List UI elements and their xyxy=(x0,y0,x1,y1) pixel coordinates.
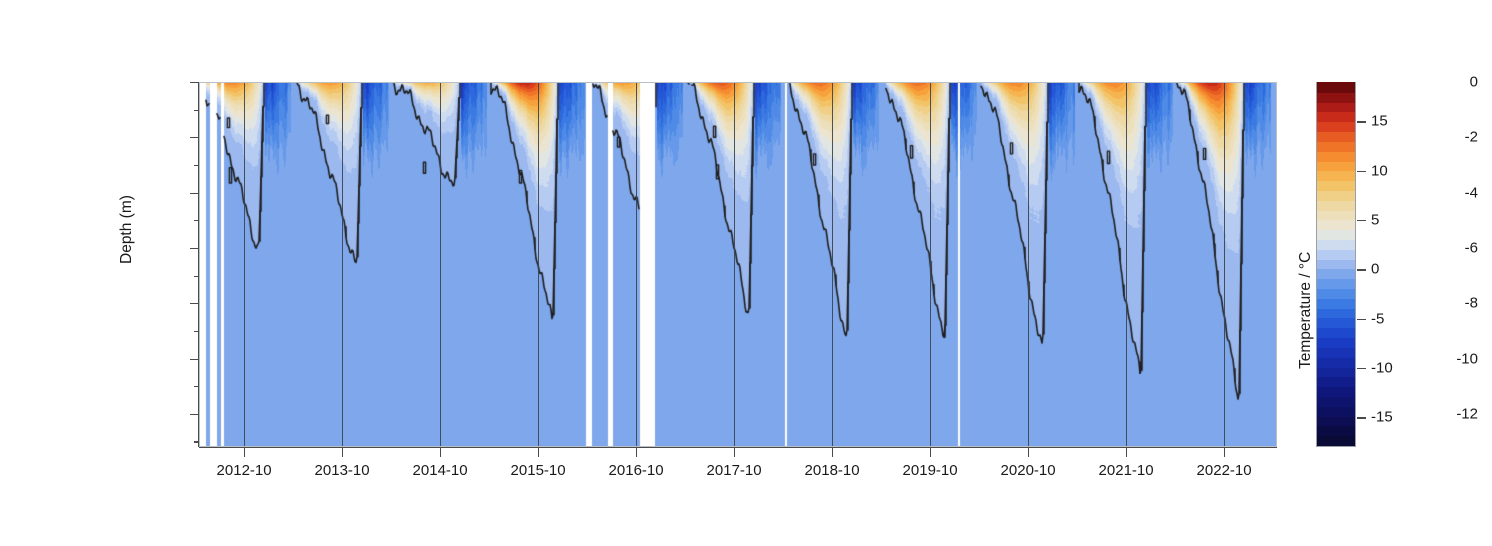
year-reference-line xyxy=(440,82,441,447)
year-reference-line xyxy=(734,82,735,447)
plot-area[interactable] xyxy=(199,82,1277,447)
y-tick-label: -4 xyxy=(1465,184,1478,201)
year-reference-line xyxy=(832,82,833,447)
colorbar-band xyxy=(1317,298,1355,309)
colorbar-band xyxy=(1317,112,1355,123)
y-tick-label: -6 xyxy=(1465,239,1478,256)
colorbar-band xyxy=(1317,426,1355,437)
colorbar-band xyxy=(1317,288,1355,299)
y-tick-label: -10 xyxy=(1456,350,1478,367)
year-reference-line xyxy=(1126,82,1127,447)
colorbar-tick xyxy=(1357,220,1366,221)
y-axis xyxy=(191,82,199,447)
colorbar-band xyxy=(1317,229,1355,240)
year-reference-line xyxy=(930,82,931,447)
colorbar-tick xyxy=(1357,171,1366,172)
y-tick-label: -12 xyxy=(1456,405,1478,422)
colorbar-gradient xyxy=(1316,82,1356,447)
x-tick xyxy=(440,448,441,457)
colorbar-tick-label: 5 xyxy=(1371,212,1379,229)
colorbar-band xyxy=(1317,200,1355,211)
x-tick-label: 2020-10 xyxy=(1001,462,1056,479)
x-tick xyxy=(930,448,931,457)
x-tick xyxy=(342,448,343,457)
x-tick xyxy=(734,448,735,457)
colorbar-band xyxy=(1317,92,1355,103)
colorbar-band xyxy=(1317,210,1355,221)
colorbar-band xyxy=(1317,82,1355,93)
y-tick xyxy=(190,137,199,138)
colorbar-band xyxy=(1317,269,1355,280)
colorbar-band xyxy=(1317,102,1355,113)
colorbar-band xyxy=(1317,190,1355,201)
temperature-depth-hovmoller-figure: Depth (m) 2012-102013-102014-102015-1020… xyxy=(0,0,1492,546)
colorbar-band xyxy=(1317,357,1355,368)
year-reference-line xyxy=(1028,82,1029,447)
year-reference-line xyxy=(636,82,637,447)
colorbar-band xyxy=(1317,347,1355,358)
colorbar[interactable]: 151050-5-10-15 xyxy=(1316,82,1356,447)
year-reference-line xyxy=(1224,82,1225,447)
x-tick-label: 2016-10 xyxy=(609,462,664,479)
colorbar-band xyxy=(1317,219,1355,230)
year-reference-line xyxy=(342,82,343,447)
colorbar-band xyxy=(1317,131,1355,142)
colorbar-tick xyxy=(1357,368,1366,369)
colorbar-band xyxy=(1317,151,1355,162)
x-tick xyxy=(244,448,245,457)
heatmap-canvas xyxy=(199,82,1277,447)
x-tick-label: 2015-10 xyxy=(511,462,566,479)
colorbar-band xyxy=(1317,318,1355,329)
y-tick-label: 0 xyxy=(1470,74,1478,91)
colorbar-band xyxy=(1317,396,1355,407)
x-tick-label: 2021-10 xyxy=(1099,462,1154,479)
colorbar-band xyxy=(1317,367,1355,378)
y-tick-label: -8 xyxy=(1465,295,1478,312)
colorbar-tick xyxy=(1357,417,1366,418)
colorbar-tick-label: -10 xyxy=(1371,360,1393,377)
colorbar-band xyxy=(1317,161,1355,172)
colorbar-band xyxy=(1317,278,1355,289)
colorbar-band xyxy=(1317,141,1355,152)
colorbar-title: Temperature / °C xyxy=(1297,252,1315,369)
colorbar-band xyxy=(1317,416,1355,427)
colorbar-band xyxy=(1317,386,1355,397)
colorbar-band xyxy=(1317,170,1355,181)
colorbar-band xyxy=(1317,376,1355,387)
x-tick-label: 2022-10 xyxy=(1197,462,1252,479)
colorbar-band xyxy=(1317,308,1355,319)
x-tick xyxy=(1126,448,1127,457)
x-tick xyxy=(636,448,637,457)
colorbar-band xyxy=(1317,327,1355,338)
x-tick-label: 2018-10 xyxy=(805,462,860,479)
colorbar-tick-label: -15 xyxy=(1371,409,1393,426)
colorbar-tick-label: 0 xyxy=(1371,261,1379,278)
colorbar-tick xyxy=(1357,269,1366,270)
y-tick xyxy=(190,193,199,194)
x-tick xyxy=(1028,448,1029,457)
x-tick xyxy=(1224,448,1225,457)
x-tick-label: 2013-10 xyxy=(315,462,370,479)
y-tick xyxy=(190,414,199,415)
colorbar-band xyxy=(1317,180,1355,191)
x-tick xyxy=(538,448,539,457)
colorbar-tick xyxy=(1357,121,1366,122)
y-tick xyxy=(190,359,199,360)
colorbar-tick-label: 10 xyxy=(1371,162,1388,179)
x-tick-label: 2014-10 xyxy=(413,462,468,479)
colorbar-tick-label: 15 xyxy=(1371,113,1388,130)
year-reference-line xyxy=(244,82,245,447)
colorbar-band xyxy=(1317,435,1355,446)
y-tick xyxy=(190,82,199,83)
colorbar-band xyxy=(1317,337,1355,348)
y-tick-label: -2 xyxy=(1465,129,1478,146)
x-tick xyxy=(832,448,833,457)
colorbar-tick xyxy=(1357,319,1366,320)
x-axis: 2012-102013-102014-102015-102016-102017-… xyxy=(199,447,1277,455)
year-reference-line xyxy=(538,82,539,447)
colorbar-band xyxy=(1317,406,1355,417)
colorbar-tick-label: -5 xyxy=(1371,310,1384,327)
colorbar-band xyxy=(1317,121,1355,132)
y-axis-title: Depth (m) xyxy=(118,195,136,264)
colorbar-band xyxy=(1317,249,1355,260)
colorbar-band xyxy=(1317,259,1355,270)
y-tick xyxy=(190,248,199,249)
y-tick xyxy=(190,303,199,304)
x-tick-label: 2012-10 xyxy=(217,462,272,479)
colorbar-band xyxy=(1317,239,1355,250)
x-tick-label: 2019-10 xyxy=(903,462,958,479)
x-tick-label: 2017-10 xyxy=(707,462,762,479)
